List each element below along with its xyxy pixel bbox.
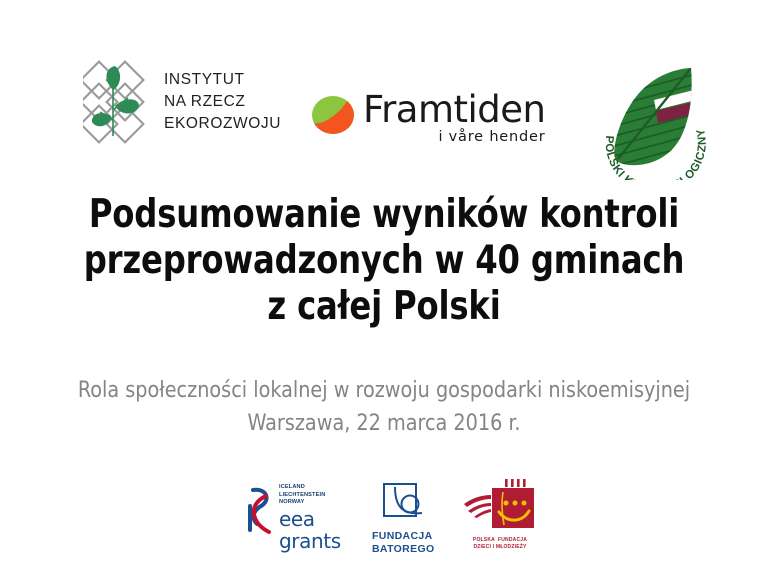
title-line-2: przeprowadzonych w 40 gminach	[31, 238, 738, 284]
title-line-3: z całej Polski	[31, 284, 738, 330]
header-logo-row: INSTYTUT NA RZECZ EKOROZWOJU Framtiden i…	[0, 30, 768, 170]
eea-swirl-icon	[247, 486, 273, 538]
eea-wordmark-group: ICELAND LIECHTENSTEIN NORWAY eea grants	[279, 482, 341, 550]
framtiden-tagline: i våre hender	[363, 129, 546, 145]
batory-label: FUNDACJA BATOREGO	[372, 530, 435, 556]
logo-instytut-label: INSTYTUT NA RZECZ EKOROZWOJU	[164, 69, 281, 135]
logo-fundacja-batorego: FUNDACJA BATOREGO	[372, 482, 435, 556]
eea-countries-label: ICELAND LIECHTENSTEIN NORWAY	[279, 484, 341, 507]
subtitle-line-2: Warszawa, 22 marca 2016 r.	[19, 407, 749, 440]
eea-wordmark-line2: grants	[279, 532, 341, 551]
batory-square-icon	[382, 482, 424, 524]
leaf-lattice-icon	[83, 58, 153, 146]
framtiden-wordmark-group: Framtiden i våre hender	[363, 92, 546, 145]
footer-logo-row: ICELAND LIECHTENSTEIN NORWAY eea grants …	[0, 476, 768, 566]
slide-title: Podsumowanie wyników kontroli przeprowad…	[0, 192, 768, 330]
logo-eea-grants: ICELAND LIECHTENSTEIN NORWAY eea grants	[247, 482, 341, 550]
slide-subtitle: Rola społeczności lokalnej w rozwoju gos…	[0, 374, 768, 440]
pfdim-label: POLSKA FUNDACJA DZIECI I MŁODZIEŻY	[473, 537, 527, 552]
logo-polska-fundacja-dzieci-i-mlodziezy: POLSKA FUNDACJA DZIECI I MŁODZIEŻY	[462, 478, 538, 552]
logo-framtiden: Framtiden i våre hender	[311, 92, 546, 145]
green-leaf-icon: POLSKI KLUB EKOLOGICZNY	[592, 54, 718, 180]
red-face-icon	[462, 478, 538, 534]
split-circle-icon	[311, 95, 355, 135]
logo-instytut-na-rzecz-ekorozwoju: INSTYTUT NA RZECZ EKOROZWOJU	[83, 58, 281, 146]
title-line-1: Podsumowanie wyników kontroli	[31, 192, 738, 238]
title-slide: INSTYTUT NA RZECZ EKOROZWOJU Framtiden i…	[0, 0, 768, 576]
framtiden-wordmark: Framtiden	[363, 92, 546, 127]
subtitle-line-1: Rola społeczności lokalnej w rozwoju gos…	[19, 374, 749, 407]
logo-polski-klub-ekologiczny: POLSKI KLUB EKOLOGICZNY	[592, 54, 718, 180]
eea-wordmark-line1: eea	[279, 510, 341, 529]
